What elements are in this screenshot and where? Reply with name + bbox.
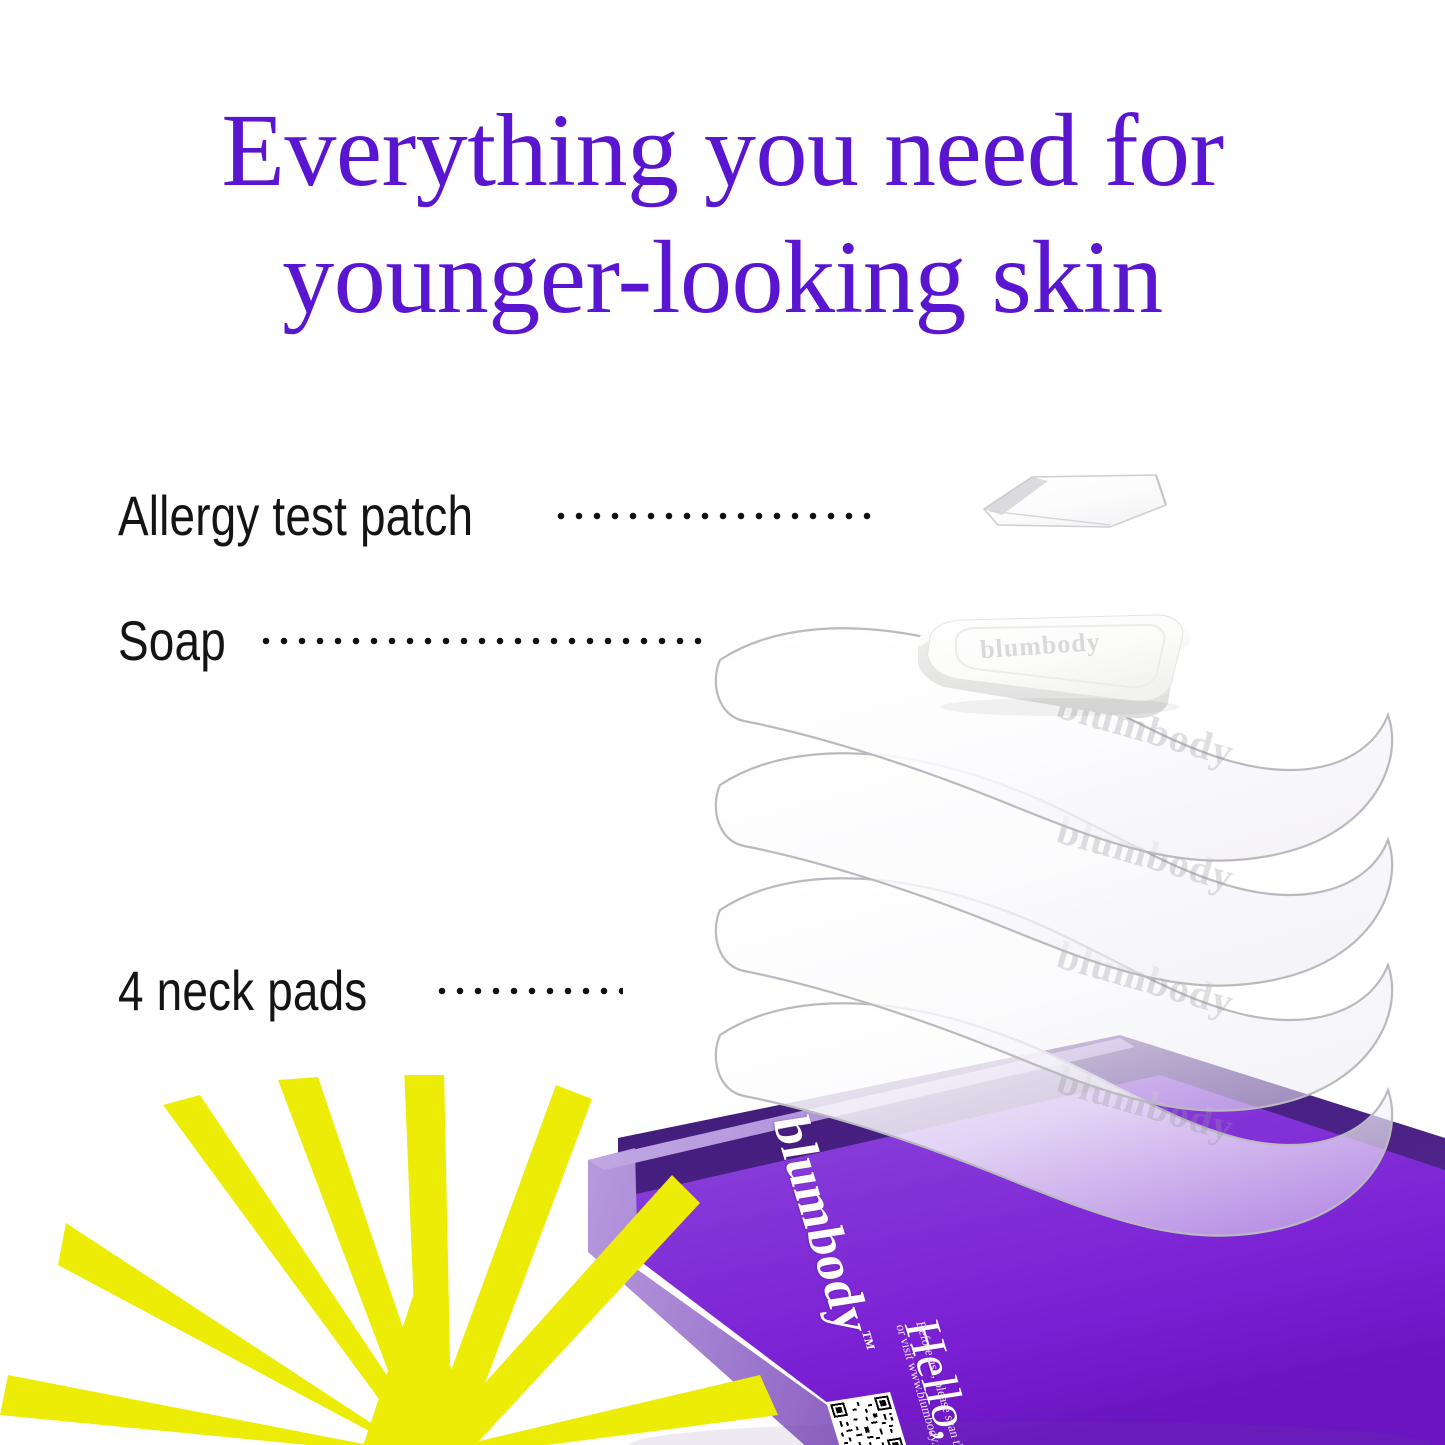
dotted-leader-soap — [262, 637, 712, 645]
checklist-row-neck-pads: 4 neck pads — [118, 958, 623, 1023]
product-photo: blumbody™ Hello, beaut Before use, pleas… — [560, 420, 1445, 1445]
dotted-leader-allergy-patch — [557, 512, 877, 520]
checklist-label-allergy-patch: Allergy test patch — [118, 483, 473, 548]
dotted-leader-neck-pads — [438, 987, 623, 995]
soap-bar: blumbody — [910, 595, 1200, 725]
checklist-label-soap: Soap — [118, 608, 226, 673]
checklist-row-allergy-patch: Allergy test patch — [118, 483, 877, 548]
trademark-symbol: ™ — [851, 1329, 879, 1352]
checklist-row-soap: Soap — [118, 608, 712, 673]
checklist-label-neck-pads: 4 neck pads — [118, 958, 367, 1023]
page-title: Everything you need for younger-looking … — [0, 88, 1445, 342]
product-feature-image: Everything you need for younger-looking … — [0, 0, 1445, 1445]
allergy-test-patch — [960, 465, 1190, 545]
